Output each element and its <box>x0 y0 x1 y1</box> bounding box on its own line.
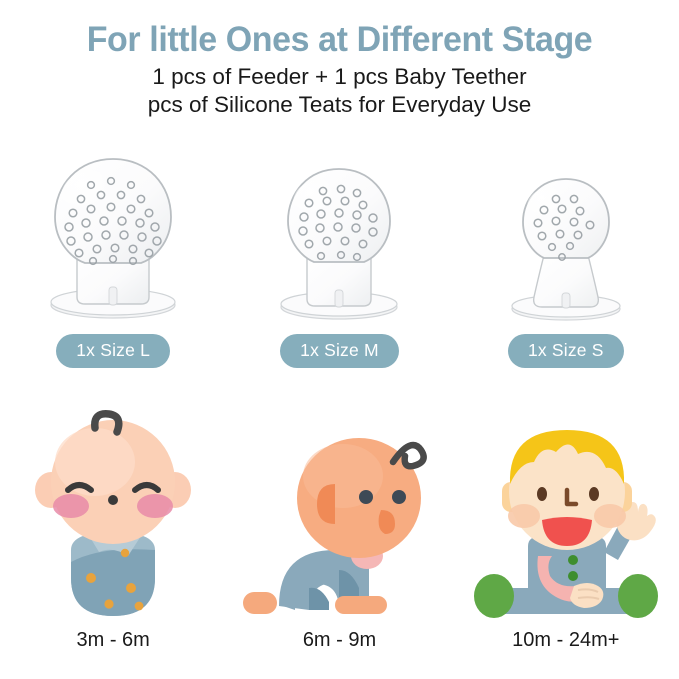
baby-stage-row: 3m - 6m <box>0 388 679 650</box>
teat-card-m[interactable]: 1x Size M <box>237 138 442 368</box>
teat-card-l[interactable]: 1x Size L <box>11 138 216 368</box>
teat-size-row: 1x Size L <box>0 138 679 368</box>
sleeping-swaddled-baby-icon <box>13 410 213 622</box>
crawling-baby-icon <box>239 410 439 622</box>
baby-card-crawling[interactable]: 6m - 9m <box>232 388 447 650</box>
silicone-teat-large-icon <box>23 147 203 325</box>
age-label-sitting: 10m - 24m+ <box>512 630 619 650</box>
subtitle-line-2: pcs of Silicone Teats for Everyday Use <box>0 91 679 119</box>
teat-badge-s: 1x Size S <box>508 334 624 369</box>
page-title: For little Ones at Different Stage <box>10 22 669 59</box>
sitting-waving-toddler-icon <box>466 410 666 622</box>
baby-image-sitting <box>466 410 666 622</box>
teat-image-m <box>249 147 429 325</box>
subtitle-line-1: 1 pcs of Feeder + 1 pcs Baby Teether <box>0 63 679 91</box>
baby-image-swaddled <box>13 410 213 622</box>
teat-badge-m: 1x Size M <box>280 334 399 369</box>
teat-image-s <box>476 147 656 325</box>
baby-card-sitting[interactable]: 10m - 24m+ <box>458 388 673 650</box>
age-label-crawling: 6m - 9m <box>303 630 376 650</box>
age-label-swaddled: 3m - 6m <box>76 630 149 650</box>
header: For little Ones at Different Stage 1 pcs… <box>0 0 679 119</box>
teat-card-s[interactable]: 1x Size S <box>463 138 668 368</box>
silicone-teat-small-icon <box>476 147 656 325</box>
teat-image-l <box>23 147 203 325</box>
silicone-teat-medium-icon <box>249 147 429 325</box>
baby-card-swaddled[interactable]: 3m - 6m <box>6 388 221 650</box>
teat-badge-l: 1x Size L <box>56 334 170 369</box>
baby-image-crawling <box>239 410 439 622</box>
infographic-page: For little Ones at Different Stage 1 pcs… <box>0 0 679 679</box>
